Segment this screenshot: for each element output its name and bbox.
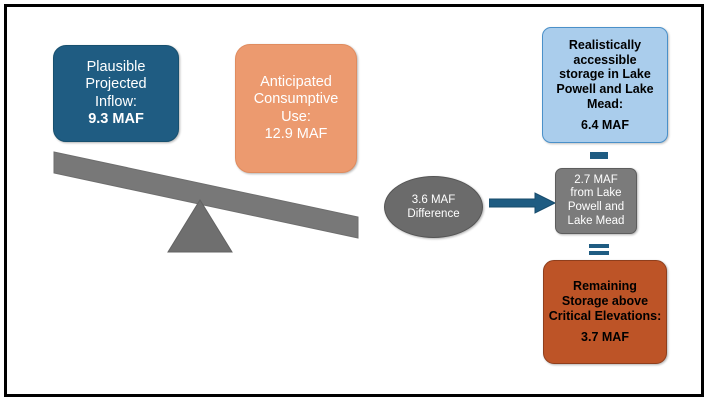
use-line-1: Anticipated: [236, 74, 356, 91]
inflow-value: 9.3 MAF: [54, 111, 178, 128]
release-line-4: Lake Mead: [556, 215, 636, 229]
remaining-line-1: Remaining: [544, 279, 666, 294]
release-line-2: from Lake: [556, 187, 636, 201]
inflow-line-2: Projected: [54, 76, 178, 93]
remaining-storage-box: Remaining Storage above Critical Elevati…: [543, 260, 667, 364]
use-line-2: Consumptive: [236, 91, 356, 108]
inflow-line-3: Inflow:: [54, 94, 178, 111]
inflow-line-1: Plausible: [54, 59, 178, 76]
storage-line-2: accessible: [543, 53, 667, 68]
release-line-3: Powell and: [556, 201, 636, 215]
difference-ellipse: 3.6 MAF Difference: [384, 176, 483, 238]
storage-line-5: Mead:: [543, 97, 667, 112]
difference-line-2: Difference: [407, 207, 459, 221]
storage-line-3: storage in Lake: [543, 67, 667, 82]
plausible-projected-inflow-box: Plausible Projected Inflow: 9.3 MAF: [53, 45, 179, 142]
remaining-value: 3.7 MAF: [544, 330, 666, 345]
use-line-3: Use:: [236, 109, 356, 126]
diagram-canvas: Plausible Projected Inflow: 9.3 MAF Anti…: [0, 0, 708, 401]
anticipated-consumptive-use-box: Anticipated Consumptive Use: 12.9 MAF: [235, 44, 357, 173]
difference-line-1: 3.6 MAF: [412, 193, 455, 207]
minus-sign-icon: [589, 151, 609, 160]
equals-sign-icon: [589, 243, 609, 256]
release-from-lakes-box: 2.7 MAF from Lake Powell and Lake Mead: [555, 168, 637, 234]
realistically-accessible-storage-box: Realistically accessible storage in Lake…: [542, 27, 668, 143]
remaining-line-3: Critical Elevations:: [544, 309, 666, 324]
right-arrow-icon: [489, 191, 557, 215]
use-value: 12.9 MAF: [236, 126, 356, 143]
storage-value: 6.4 MAF: [543, 118, 667, 133]
release-line-1: 2.7 MAF: [556, 174, 636, 188]
storage-line-1: Realistically: [543, 38, 667, 53]
remaining-line-2: Storage above: [544, 294, 666, 309]
storage-line-4: Powell and Lake: [543, 82, 667, 97]
